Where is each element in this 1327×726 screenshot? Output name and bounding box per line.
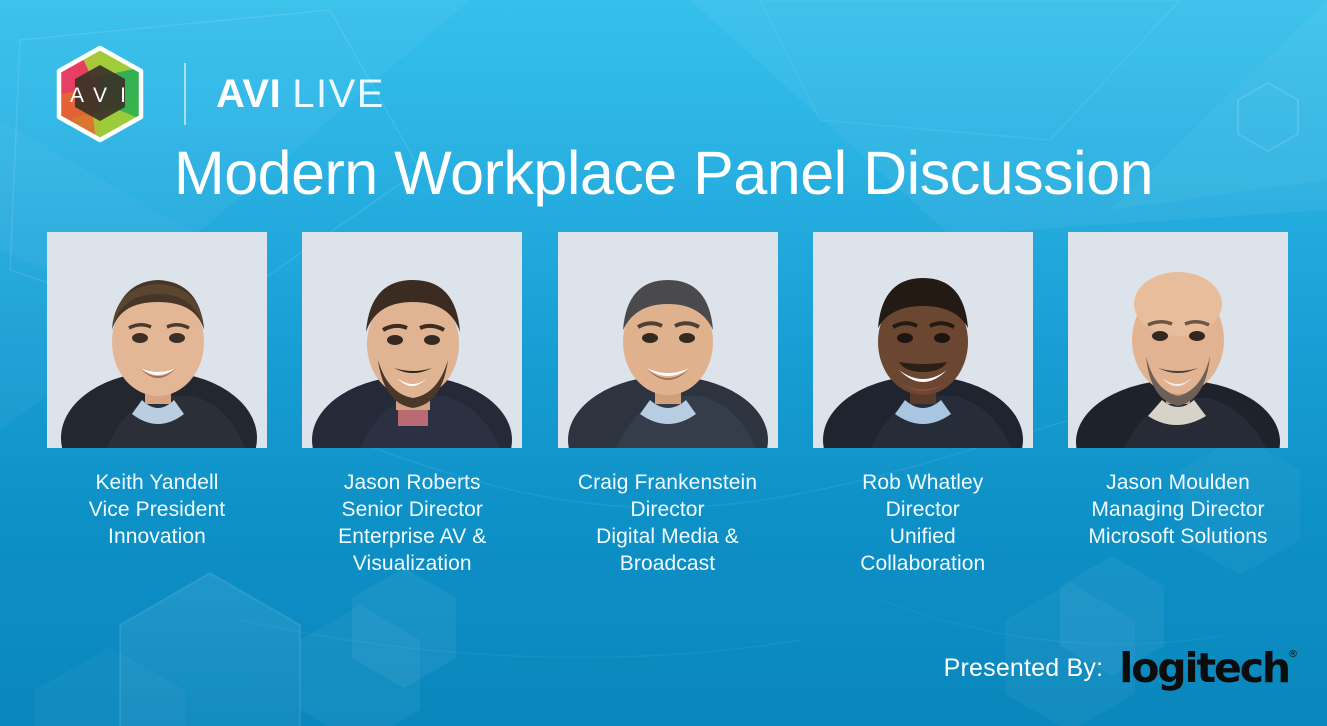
headshot-rob-whatley xyxy=(813,232,1033,448)
panelist-dept: Innovation xyxy=(89,524,225,551)
panelist-info: Rob Whatley Director Unified Collaborati… xyxy=(860,470,985,578)
panelist-card: Jason Roberts Senior Director Enterprise… xyxy=(302,232,522,578)
logitech-logo[interactable]: logitech® xyxy=(1119,648,1289,689)
panelist-dept: Digital Media & xyxy=(578,524,757,551)
svg-text:I: I xyxy=(120,84,126,107)
svg-text:V: V xyxy=(93,84,107,107)
panelist-name: Jason Roberts xyxy=(338,470,486,497)
panelist-info: Craig Frankenstein Director Digital Medi… xyxy=(578,470,757,578)
panelist-dept: Unified xyxy=(860,524,985,551)
presentation-slide: A V I AVI LIVE Modern Workplace Panel Di… xyxy=(0,0,1327,726)
logitech-wordmark: logitech xyxy=(1119,644,1289,692)
panelist-row: Keith Yandell Vice President Innovation xyxy=(47,232,1288,578)
headshot-craig-frankenstein xyxy=(558,232,778,448)
panelist-title: Managing Director xyxy=(1088,497,1267,524)
panelist-card: Craig Frankenstein Director Digital Medi… xyxy=(558,232,778,578)
panelist-card: Jason Moulden Managing Director Microsof… xyxy=(1068,232,1288,551)
panelist-name: Keith Yandell xyxy=(89,470,225,497)
slide-title: Modern Workplace Panel Discussion xyxy=(0,141,1327,205)
panelist-title: Director xyxy=(578,497,757,524)
registered-mark-icon: ® xyxy=(1288,650,1298,660)
panelist-name: Rob Whatley xyxy=(860,470,985,497)
panelist-dept-cont: Visualization xyxy=(338,551,486,578)
panelist-name: Jason Moulden xyxy=(1088,470,1267,497)
wordmark-avi: AVI xyxy=(216,72,281,117)
avi-logo-icon[interactable]: A V I xyxy=(52,44,148,144)
presented-by: Presented By: logitech® xyxy=(944,648,1289,689)
panelist-info: Keith Yandell Vice President Innovation xyxy=(89,470,225,551)
panelist-dept-cont: Broadcast xyxy=(578,551,757,578)
presented-by-label: Presented By: xyxy=(944,654,1104,683)
panelist-name: Craig Frankenstein xyxy=(578,470,757,497)
svg-text:A: A xyxy=(70,84,84,107)
headshot-jason-moulden xyxy=(1068,232,1288,448)
panelist-title: Director xyxy=(860,497,985,524)
header-divider xyxy=(184,63,186,125)
panelist-card: Keith Yandell Vice President Innovation xyxy=(47,232,267,551)
panelist-info: Jason Moulden Managing Director Microsof… xyxy=(1088,470,1267,551)
panelist-info: Jason Roberts Senior Director Enterprise… xyxy=(338,470,486,578)
panelist-dept-cont: Collaboration xyxy=(860,551,985,578)
panelist-dept: Enterprise AV & xyxy=(338,524,486,551)
panelist-title: Senior Director xyxy=(338,497,486,524)
headshot-jason-roberts xyxy=(302,232,522,448)
panelist-title: Vice President xyxy=(89,497,225,524)
brand-header: A V I AVI LIVE xyxy=(52,46,385,142)
panelist-card: Rob Whatley Director Unified Collaborati… xyxy=(813,232,1033,578)
avi-live-wordmark: AVI LIVE xyxy=(216,72,385,117)
headshot-keith-yandell xyxy=(47,232,267,448)
wordmark-live: LIVE xyxy=(292,72,385,117)
panelist-dept: Microsoft Solutions xyxy=(1088,524,1267,551)
